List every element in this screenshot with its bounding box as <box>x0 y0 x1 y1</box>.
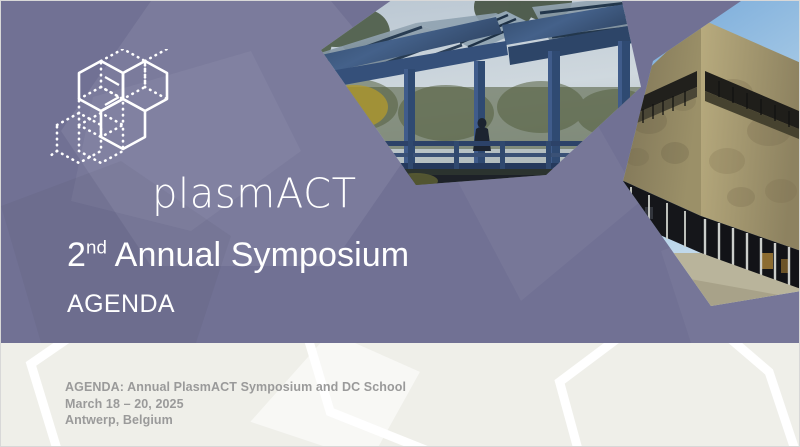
title-number: 2 <box>67 236 86 274</box>
footer-band: AGENDA: Annual PlasmACT Symposium and DC… <box>1 342 799 446</box>
logo: plasmACT <box>49 49 299 179</box>
page-title: 2nd Annual Symposium <box>67 238 409 274</box>
purple-header-band: plasmACT 2nd Annual Symposium AGENDA <box>1 1 800 343</box>
slide: AGENDA: Annual PlasmACT Symposium and DC… <box>0 0 800 447</box>
footer-line-3: Antwerp, Belgium <box>65 413 173 427</box>
hexagonal-molecule-mark <box>49 49 169 174</box>
footer-text-block: AGENDA: Annual PlasmACT Symposium and DC… <box>65 379 406 429</box>
logo-wordmark: plasmACT <box>152 174 357 215</box>
title-main: Annual Symposium <box>107 236 409 274</box>
logo-word-plasm: plasm <box>152 171 276 218</box>
page-subtitle: AGENDA <box>67 292 175 317</box>
title-ordinal-suffix: nd <box>86 237 107 258</box>
footer-line-2: March 18 – 20, 2025 <box>65 397 184 411</box>
logo-word-act: ACT <box>276 171 357 218</box>
photo-modern-stone-building <box>601 1 800 313</box>
footer-line-1: AGENDA: Annual PlasmACT Symposium and DC… <box>65 380 406 394</box>
